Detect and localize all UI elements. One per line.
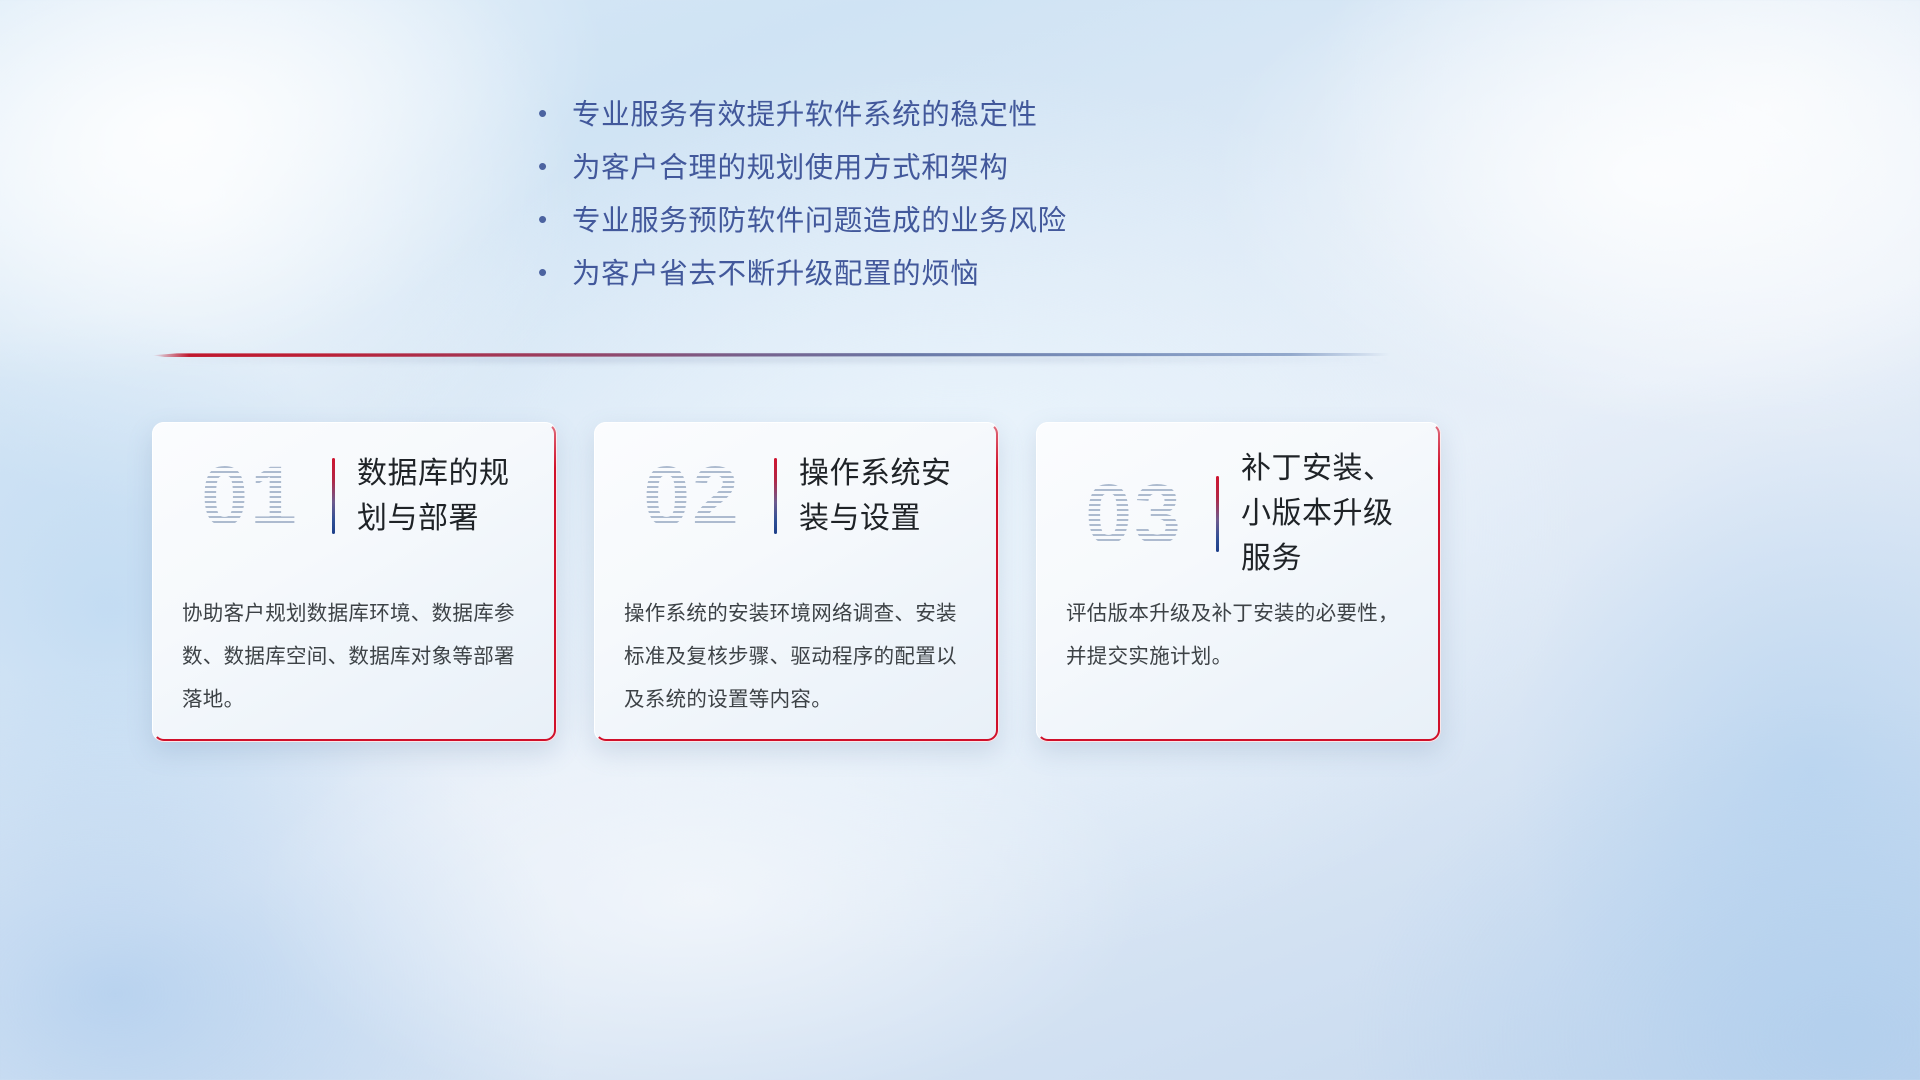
- bullet-dot-icon: •: [538, 259, 572, 285]
- bullet-item-label: 专业服务有效提升软件系统的稳定性: [572, 92, 1038, 133]
- bullet-dot-icon: •: [538, 206, 572, 232]
- card-title: 补丁安装、小版本升级服务: [1241, 446, 1423, 581]
- bullet-dot-icon: •: [538, 100, 572, 126]
- bullet-item-label: 为客户合理的规划使用方式和架构: [572, 145, 1009, 186]
- bullet-item: • 专业服务有效提升软件系统的稳定性: [538, 92, 1298, 145]
- divider-shadow: [152, 357, 1390, 362]
- service-card-list: 01 数据库的规划与部署 协助客户规划数据库环境、数据库参数、数据库空间、数据库…: [152, 422, 1441, 742]
- card-number-watermark: 01: [170, 446, 330, 546]
- bullet-item-label: 为客户省去不断升级配置的烦恼: [572, 251, 979, 292]
- card-header: 02 操作系统安装与设置: [594, 446, 981, 546]
- card-header: 01 数据库的规划与部署: [152, 446, 539, 546]
- bullet-item: • 为客户省去不断升级配置的烦恼: [538, 251, 1298, 304]
- card-number-watermark: 03: [1054, 464, 1214, 564]
- card-divider-bar: [774, 458, 777, 534]
- card-description: 评估版本升级及补丁安装的必要性，并提交实施计划。: [1066, 592, 1415, 678]
- card-title: 数据库的规划与部署: [357, 451, 539, 541]
- card-divider-bar: [1216, 476, 1219, 552]
- card-description: 协助客户规划数据库环境、数据库参数、数据库空间、数据库对象等部署落地。: [182, 592, 531, 721]
- card-divider-bar: [332, 458, 335, 534]
- section-divider: [152, 350, 1390, 362]
- service-card[interactable]: 02 操作系统安装与设置 操作系统的安装环境网络调查、安装标准及复核步骤、驱动程…: [594, 422, 999, 742]
- card-number-watermark: 02: [612, 446, 772, 546]
- card-title: 操作系统安装与设置: [799, 451, 981, 541]
- service-card[interactable]: 03 补丁安装、小版本升级服务 评估版本升级及补丁安装的必要性，并提交实施计划。: [1036, 422, 1441, 742]
- bullet-item-label: 专业服务预防软件问题造成的业务风险: [572, 198, 1067, 239]
- card-header: 03 补丁安装、小版本升级服务: [1036, 446, 1423, 581]
- background-glow-right: [1500, 420, 1920, 1080]
- bullet-item: • 为客户合理的规划使用方式和架构: [538, 145, 1298, 198]
- card-description: 操作系统的安装环境网络调查、安装标准及复核步骤、驱动程序的配置以及系统的设置等内…: [624, 592, 973, 721]
- bullet-item: • 专业服务预防软件问题造成的业务风险: [538, 198, 1298, 251]
- service-card[interactable]: 01 数据库的规划与部署 协助客户规划数据库环境、数据库参数、数据库空间、数据库…: [152, 422, 557, 742]
- bullet-dot-icon: •: [538, 153, 572, 179]
- benefits-bullet-list: • 专业服务有效提升软件系统的稳定性 • 为客户合理的规划使用方式和架构 • 专…: [538, 92, 1298, 304]
